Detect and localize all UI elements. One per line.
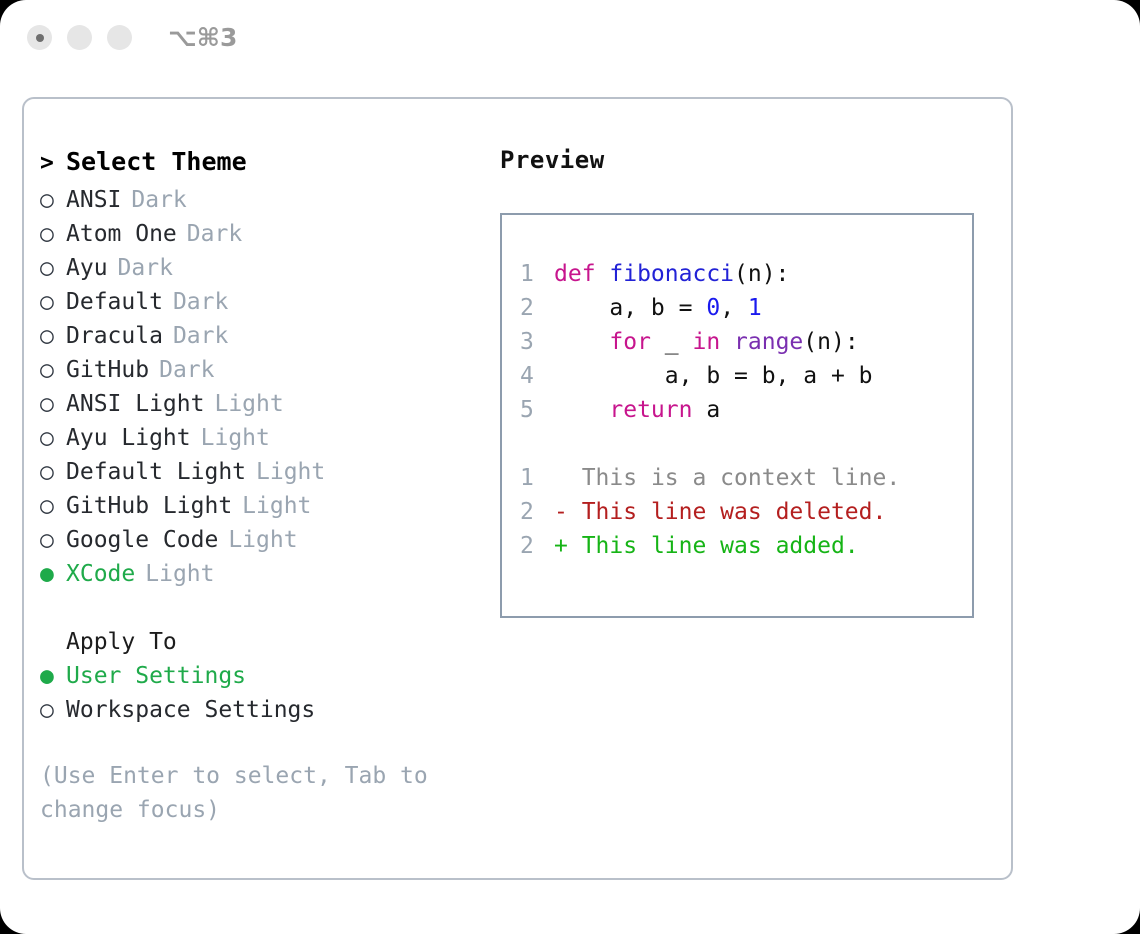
prompt-caret-icon: > — [40, 144, 66, 182]
diff-line-text: This is a context line. — [582, 461, 901, 495]
radio-selected-icon[interactable]: ● — [40, 659, 66, 693]
diff-line: 2+ This line was added. — [520, 529, 972, 563]
diff-prefix-marker: - — [554, 495, 582, 529]
code-sample: 1def fibonacci(n):2 a, b = 0, 13 for _ i… — [520, 257, 972, 427]
theme-option-row[interactable]: ○AyuDark — [40, 251, 500, 285]
keyboard-hint-text: (Use Enter to select, Tab to change focu… — [40, 759, 440, 827]
theme-selector-column: >Select Theme ○ANSIDark○Atom OneDark○Ayu… — [40, 143, 500, 827]
theme-variant-tag: Dark — [173, 285, 228, 319]
code-token-kw: return — [609, 397, 692, 423]
theme-option-row[interactable]: ○GitHub LightLight — [40, 489, 500, 523]
preview-box: 1def fibonacci(n):2 a, b = 0, 13 for _ i… — [500, 213, 974, 618]
keyboard-shortcut-label: ⌥⌘3 — [168, 23, 237, 52]
select-theme-title: Select Theme — [66, 143, 247, 181]
theme-variant-tag: Light — [201, 421, 270, 455]
radio-unselected-icon[interactable]: ○ — [40, 319, 66, 353]
theme-variant-tag: Light — [242, 489, 311, 523]
code-line-content: for _ in range(n): — [554, 325, 859, 359]
code-token-plain: (n): — [803, 329, 858, 355]
code-line-content: return a — [554, 393, 720, 427]
code-token-num: 1 — [748, 295, 762, 321]
window-dot-third[interactable] — [107, 25, 132, 50]
theme-variant-tag: Light — [214, 387, 283, 421]
theme-option-row[interactable]: ○Ayu LightLight — [40, 421, 500, 455]
theme-option-row[interactable]: ○ANSIDark — [40, 183, 500, 217]
code-line-content: def fibonacci(n): — [554, 257, 789, 291]
theme-variant-tag: Dark — [131, 183, 186, 217]
theme-name-label: Ayu Light — [66, 421, 191, 455]
window-dot-second[interactable] — [67, 25, 92, 50]
code-token-fn: fibonacci — [609, 261, 734, 287]
code-token-plain — [554, 397, 609, 423]
code-line-content: a, b = 0, 1 — [554, 291, 762, 325]
diff-line: 1 This is a context line. — [520, 461, 972, 495]
theme-name-label: Default — [66, 285, 163, 319]
diff-line-text: This line was deleted. — [582, 495, 887, 529]
apply-to-option-label: User Settings — [66, 659, 246, 693]
code-line-content: a, b = b, a + b — [554, 359, 873, 393]
theme-variant-tag: Dark — [159, 353, 214, 387]
radio-unselected-icon[interactable]: ○ — [40, 353, 66, 387]
active-indicator-dot — [36, 34, 44, 42]
theme-option-row[interactable]: ○Atom OneDark — [40, 217, 500, 251]
theme-name-label: GitHub — [66, 353, 149, 387]
radio-unselected-icon[interactable]: ○ — [40, 387, 66, 421]
diff-line-number: 2 — [520, 529, 554, 563]
theme-name-label: Default Light — [66, 455, 246, 489]
select-theme-header: >Select Theme — [40, 143, 500, 182]
apply-to-options: ●User Settings○Workspace Settings — [40, 659, 500, 727]
apply-to-option-row[interactable]: ●User Settings — [40, 659, 500, 693]
diff-line: 2- This line was deleted. — [520, 495, 972, 529]
theme-variant-tag: Light — [256, 455, 325, 489]
apply-to-title: Apply To — [66, 625, 177, 659]
diff-line-text: This line was added. — [582, 529, 859, 563]
code-token-plain: _ — [651, 329, 693, 355]
theme-name-label: XCode — [66, 557, 135, 591]
diff-spacer — [520, 427, 972, 461]
apply-to-header: Apply To — [40, 625, 500, 659]
apply-to-spacer — [40, 591, 500, 625]
theme-option-row[interactable]: ○DraculaDark — [40, 319, 500, 353]
diff-prefix-marker — [554, 461, 582, 495]
radio-unselected-icon[interactable]: ○ — [40, 251, 66, 285]
theme-variant-tag: Light — [145, 557, 214, 591]
panel-columns: >Select Theme ○ANSIDark○Atom OneDark○Ayu… — [24, 99, 1011, 878]
window-dot-active[interactable] — [27, 25, 52, 50]
theme-option-row[interactable]: ○ANSI LightLight — [40, 387, 500, 421]
code-token-num: 0 — [706, 295, 720, 321]
code-token-plain: (n): — [734, 261, 789, 287]
code-line: 3 for _ in range(n): — [520, 325, 972, 359]
theme-name-label: GitHub Light — [66, 489, 232, 523]
app-window: ⌥⌘3 >Select Theme ○ANSIDark○Atom OneDark… — [0, 0, 1140, 934]
radio-unselected-icon[interactable]: ○ — [40, 421, 66, 455]
main-panel: >Select Theme ○ANSIDark○Atom OneDark○Ayu… — [22, 97, 1013, 880]
theme-option-row[interactable]: ●XCodeLight — [40, 557, 500, 591]
code-line-number: 4 — [520, 359, 554, 393]
code-line-number: 5 — [520, 393, 554, 427]
theme-list: ○ANSIDark○Atom OneDark○AyuDark○DefaultDa… — [40, 183, 500, 591]
code-token-call: range — [734, 329, 803, 355]
apply-to-option-row[interactable]: ○Workspace Settings — [40, 693, 500, 727]
diff-line-number: 2 — [520, 495, 554, 529]
theme-option-row[interactable]: ○Default LightLight — [40, 455, 500, 489]
radio-unselected-icon[interactable]: ○ — [40, 217, 66, 251]
theme-name-label: Dracula — [66, 319, 163, 353]
theme-variant-tag: Dark — [118, 251, 173, 285]
code-line: 4 a, b = b, a + b — [520, 359, 972, 393]
theme-option-row[interactable]: ○GitHubDark — [40, 353, 500, 387]
code-token-kw: for — [609, 329, 651, 355]
radio-unselected-icon[interactable]: ○ — [40, 455, 66, 489]
code-token-plain: , — [720, 295, 748, 321]
theme-variant-tag: Dark — [187, 217, 242, 251]
theme-name-label: ANSI Light — [66, 387, 204, 421]
diff-prefix-marker: + — [554, 529, 582, 563]
theme-variant-tag: Light — [228, 523, 297, 557]
theme-variant-tag: Dark — [173, 319, 228, 353]
code-line-number: 1 — [520, 257, 554, 291]
radio-unselected-icon[interactable]: ○ — [40, 489, 66, 523]
radio-unselected-icon[interactable]: ○ — [40, 693, 66, 727]
preview-column: Preview 1def fibonacci(n):2 a, b = 0, 13… — [500, 143, 1000, 618]
code-token-kw: def — [554, 261, 609, 287]
code-line: 1def fibonacci(n): — [520, 257, 972, 291]
code-token-plain: a — [692, 397, 720, 423]
code-token-plain — [554, 329, 609, 355]
theme-name-label: Atom One — [66, 217, 177, 251]
radio-selected-icon[interactable]: ● — [40, 557, 66, 591]
window-controls — [27, 25, 132, 50]
radio-unselected-icon[interactable]: ○ — [40, 285, 66, 319]
code-token-plain: a, b = — [554, 295, 706, 321]
apply-to-option-label: Workspace Settings — [66, 693, 315, 727]
theme-option-row[interactable]: ○DefaultDark — [40, 285, 500, 319]
code-line-number: 3 — [520, 325, 554, 359]
theme-option-row[interactable]: ○Google CodeLight — [40, 523, 500, 557]
theme-name-label: ANSI — [66, 183, 121, 217]
code-line: 2 a, b = 0, 1 — [520, 291, 972, 325]
code-token-kw: in — [692, 329, 720, 355]
theme-name-label: Google Code — [66, 523, 218, 557]
preview-title: Preview — [500, 143, 1000, 177]
code-token-plain: a, b = b, a + b — [554, 363, 873, 389]
theme-name-label: Ayu — [66, 251, 108, 285]
radio-unselected-icon[interactable]: ○ — [40, 183, 66, 217]
radio-unselected-icon[interactable]: ○ — [40, 523, 66, 557]
code-token-plain — [720, 329, 734, 355]
title-bar: ⌥⌘3 — [0, 0, 1140, 78]
diff-sample: 1 This is a context line.2- This line wa… — [520, 461, 972, 563]
code-line: 5 return a — [520, 393, 972, 427]
diff-line-number: 1 — [520, 461, 554, 495]
code-line-number: 2 — [520, 291, 554, 325]
